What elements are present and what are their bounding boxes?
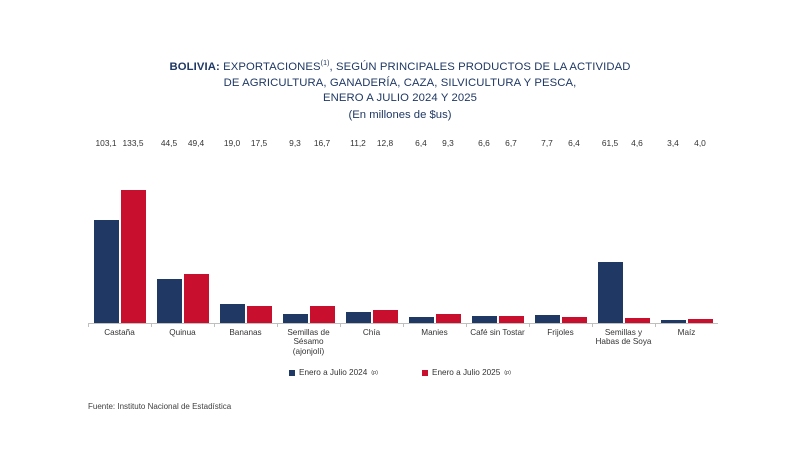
- category-label-line: Semillas y: [593, 328, 654, 337]
- bar-group: 19,017,5: [214, 150, 277, 323]
- bar-value-label: 19,0: [224, 138, 240, 148]
- bar-group: 103,1133,5: [88, 150, 151, 323]
- legend-2024[interactable]: Enero a Julio 2024(p): [289, 368, 378, 377]
- bar-column[interactable]: 103,1: [94, 150, 119, 323]
- bar-value-label: 16,7: [314, 138, 330, 148]
- bar-2025[interactable]: 49,4: [184, 274, 209, 323]
- chart-plot-area: 103,1133,544,549,419,017,59,316,711,212,…: [88, 150, 718, 325]
- bar-value-label: 9,3: [442, 138, 454, 148]
- bar-group: 61,54,6: [592, 150, 655, 323]
- bar-value-label: 6,4: [568, 138, 580, 148]
- bar-value-label: 11,2: [350, 138, 366, 148]
- title-line-1: BOLIVIA: EXPORTACIONES(1), SEGÚN PRINCIP…: [0, 60, 800, 76]
- title-bold-prefix: BOLIVIA:: [169, 61, 219, 73]
- bar-2025[interactable]: 9,3: [436, 314, 461, 323]
- category-label-line: Bananas: [215, 328, 276, 337]
- category-label-line: Quinua: [152, 328, 213, 337]
- bar-column[interactable]: 133,5: [121, 150, 146, 323]
- bar-value-label: 12,8: [377, 138, 393, 148]
- bar-2024[interactable]: 44,5: [157, 279, 182, 324]
- bar-2024[interactable]: 9,3: [283, 314, 308, 323]
- category-label-line: Castaña: [89, 328, 150, 337]
- category-label-line: Frijoles: [530, 328, 591, 337]
- legend-swatch-icon: [289, 370, 295, 376]
- bar-2025[interactable]: 12,8: [373, 310, 398, 323]
- bar-value-label: 6,6: [478, 138, 490, 148]
- category-label: Café sin Tostar: [466, 328, 529, 356]
- category-label: Castaña: [88, 328, 151, 356]
- category-label: Chía: [340, 328, 403, 356]
- bar-2024[interactable]: 11,2: [346, 312, 371, 323]
- legend-label: Enero a Julio 2025: [432, 368, 500, 377]
- legend-swatch-icon: [422, 370, 428, 376]
- bar-value-label: 7,7: [541, 138, 553, 148]
- title-units: (En millones de $us): [0, 108, 800, 124]
- bar-column[interactable]: 44,5: [157, 150, 182, 323]
- bar-column[interactable]: 3,4: [661, 150, 686, 323]
- category-label: Bananas: [214, 328, 277, 356]
- source-note: Fuente: Instituto Nacional de Estadístic…: [88, 402, 231, 411]
- bar-group: 9,316,7: [277, 150, 340, 323]
- bar-column[interactable]: 61,5: [598, 150, 623, 323]
- category-label-line: Manies: [404, 328, 465, 337]
- chart-title-block: BOLIVIA: EXPORTACIONES(1), SEGÚN PRINCIP…: [0, 60, 800, 123]
- category-label-line: Sésamo: [278, 337, 339, 346]
- legend-2025[interactable]: Enero a Julio 2025(p): [422, 368, 511, 377]
- bar-column[interactable]: 6,4: [409, 150, 434, 323]
- bar-2024[interactable]: 103,1: [94, 220, 119, 323]
- title-superscript: (1): [321, 60, 330, 67]
- bar-value-label: 6,4: [415, 138, 427, 148]
- bar-value-label: 6,7: [505, 138, 517, 148]
- bar-column[interactable]: 6,7: [499, 150, 524, 323]
- category-label: Manies: [403, 328, 466, 356]
- bar-value-label: 9,3: [289, 138, 301, 148]
- bar-column[interactable]: 6,4: [562, 150, 587, 323]
- category-label: Semillas deSésamo(ajonjolí): [277, 328, 340, 356]
- legend-label: Enero a Julio 2024: [299, 368, 367, 377]
- bar-column[interactable]: 19,0: [220, 150, 245, 323]
- bar-group: 11,212,8: [340, 150, 403, 323]
- bar-value-label: 49,4: [188, 138, 204, 148]
- bar-group: 6,66,7: [466, 150, 529, 323]
- title-line1-tail: , SEGÚN PRINCIPALES PRODUCTOS DE LA ACTI…: [330, 61, 631, 73]
- bar-value-label: 4,0: [694, 138, 706, 148]
- bar-column[interactable]: 9,3: [436, 150, 461, 323]
- bar-column[interactable]: 7,7: [535, 150, 560, 323]
- bar-group: 44,549,4: [151, 150, 214, 323]
- bar-groups: 103,1133,544,549,419,017,59,316,711,212,…: [88, 150, 718, 323]
- x-axis-line: [88, 323, 718, 324]
- bar-group: 6,49,3: [403, 150, 466, 323]
- bar-column[interactable]: 16,7: [310, 150, 335, 323]
- x-axis-category-labels: CastañaQuinuaBananasSemillas deSésamo(aj…: [88, 328, 718, 356]
- category-label-line: Chía: [341, 328, 402, 337]
- bar-group: 3,44,0: [655, 150, 718, 323]
- bar-2025[interactable]: 16,7: [310, 306, 335, 323]
- bar-value-label: 17,5: [251, 138, 267, 148]
- bar-column[interactable]: 17,5: [247, 150, 272, 323]
- category-label-line: Maíz: [656, 328, 717, 337]
- category-label-line: Semillas de: [278, 328, 339, 337]
- bar-value-label: 4,6: [631, 138, 643, 148]
- bar-column[interactable]: 4,6: [625, 150, 650, 323]
- title-line1-rest: EXPORTACIONES: [220, 61, 321, 73]
- bar-column[interactable]: 6,6: [472, 150, 497, 323]
- category-label-line: (ajonjolí): [278, 347, 339, 356]
- bar-value-label: 44,5: [161, 138, 177, 148]
- bar-column[interactable]: 9,3: [283, 150, 308, 323]
- bar-value-label: 61,5: [602, 138, 618, 148]
- bar-2025[interactable]: 133,5: [121, 190, 146, 324]
- category-label: Maíz: [655, 328, 718, 356]
- bar-value-label: 103,1: [96, 138, 117, 148]
- bar-2024[interactable]: 61,5: [598, 262, 623, 324]
- category-label: Semillas yHabas de Soya: [592, 328, 655, 356]
- title-line-2: DE AGRICULTURA, GANADERÍA, CAZA, SILVICU…: [0, 76, 800, 92]
- bar-column[interactable]: 4,0: [688, 150, 713, 323]
- bar-column[interactable]: 11,2: [346, 150, 371, 323]
- bar-2025[interactable]: 17,5: [247, 306, 272, 324]
- bar-2024[interactable]: 19,0: [220, 304, 245, 323]
- chart-legend: Enero a Julio 2024(p)Enero a Julio 2025(…: [0, 368, 800, 377]
- bar-column[interactable]: 12,8: [373, 150, 398, 323]
- title-line-3: ENERO A JULIO 2024 Y 2025: [0, 91, 800, 107]
- bar-group: 7,76,4: [529, 150, 592, 323]
- bar-2025[interactable]: 6,7: [499, 316, 524, 323]
- category-label-line: Habas de Soya: [593, 337, 654, 346]
- category-label: Quinua: [151, 328, 214, 356]
- category-label: Frijoles: [529, 328, 592, 356]
- bar-value-label: 3,4: [667, 138, 679, 148]
- bar-2024[interactable]: 7,7: [535, 315, 560, 323]
- category-label-line: Café sin Tostar: [467, 328, 528, 337]
- bar-value-label: 133,5: [123, 138, 144, 148]
- bar-2024[interactable]: 6,6: [472, 316, 497, 323]
- bar-column[interactable]: 49,4: [184, 150, 209, 323]
